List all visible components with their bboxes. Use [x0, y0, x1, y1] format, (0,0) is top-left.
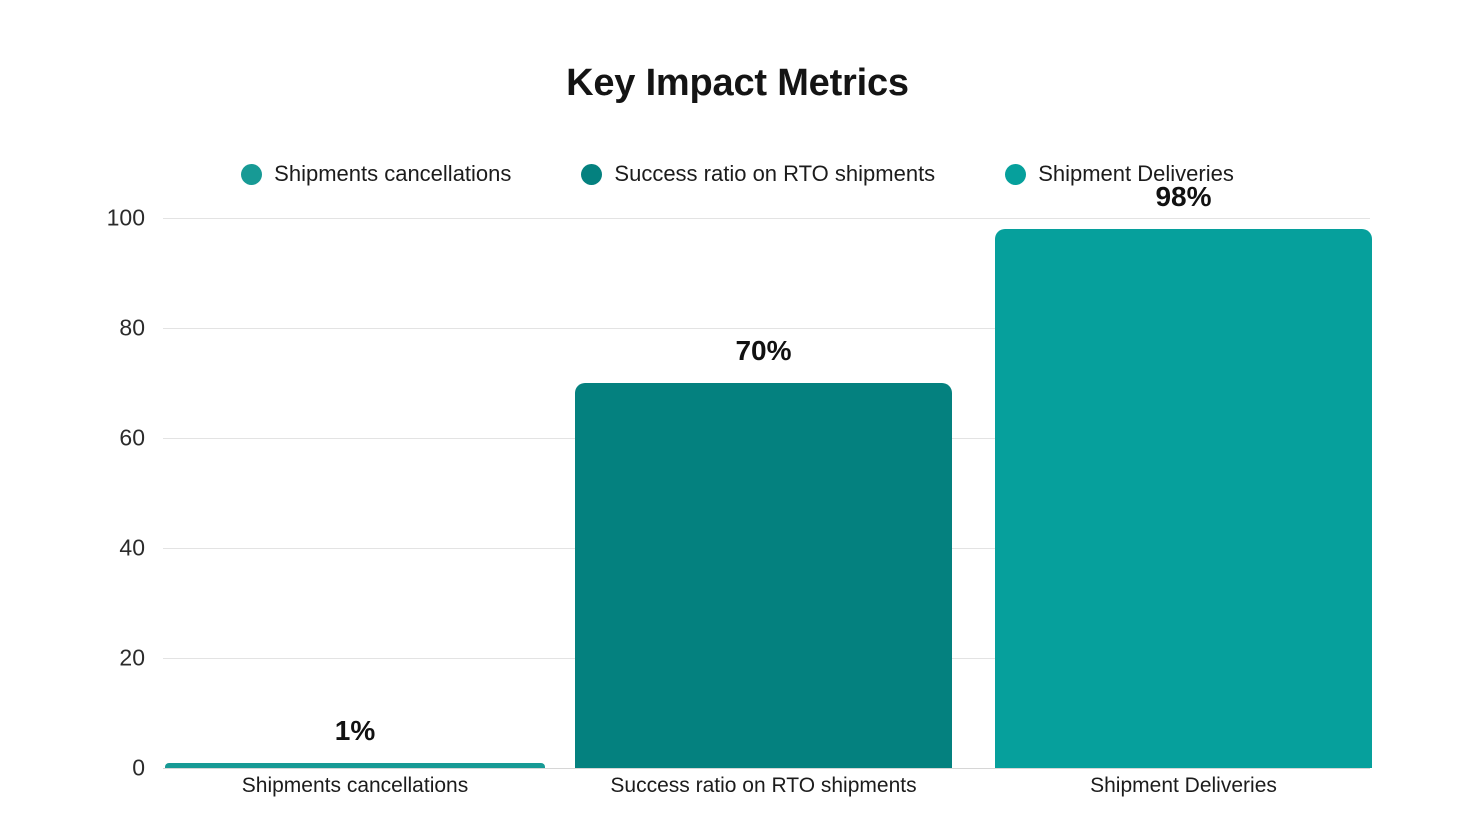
chart-title: Key Impact Metrics [0, 62, 1475, 105]
bar[interactable] [165, 763, 545, 769]
legend-item-success-ratio-rto[interactable]: Success ratio on RTO shipments [581, 163, 935, 185]
legend-color-dot-icon [1005, 164, 1026, 185]
x-axis-tick-label: Success ratio on RTO shipments [575, 775, 952, 796]
legend-color-dot-icon [241, 164, 262, 185]
bar[interactable] [575, 383, 952, 768]
x-axis-tick-labels: Shipments cancellationsSuccess ratio on … [163, 775, 1370, 815]
plot-area: 1%70%98% [163, 218, 1370, 768]
y-axis-tick-labels: 020406080100 [0, 218, 145, 768]
gridline [163, 768, 1370, 769]
bar-chart: Key Impact Metrics Shipments cancellatio… [0, 0, 1475, 835]
bar-value-label: 1% [165, 717, 545, 745]
y-axis-tick-label: 40 [119, 537, 145, 560]
y-axis-tick-label: 60 [119, 427, 145, 450]
x-axis-tick-label: Shipments cancellations [165, 775, 545, 796]
bar-series: 1%70%98% [163, 218, 1370, 768]
legend-label: Success ratio on RTO shipments [614, 163, 935, 185]
y-axis-tick-label: 100 [107, 207, 145, 230]
y-axis-tick-label: 20 [119, 647, 145, 670]
y-axis-tick-label: 80 [119, 317, 145, 340]
legend-color-dot-icon [581, 164, 602, 185]
x-axis-tick-label: Shipment Deliveries [995, 775, 1372, 796]
y-axis-tick-label: 0 [132, 757, 145, 780]
bar[interactable] [995, 229, 1372, 768]
bar-value-label: 98% [995, 183, 1372, 211]
bar-value-label: 70% [575, 337, 952, 365]
chart-legend: Shipments cancellations Success ratio on… [0, 163, 1475, 185]
legend-label: Shipments cancellations [274, 163, 511, 185]
legend-item-shipments-cancellations[interactable]: Shipments cancellations [241, 163, 511, 185]
